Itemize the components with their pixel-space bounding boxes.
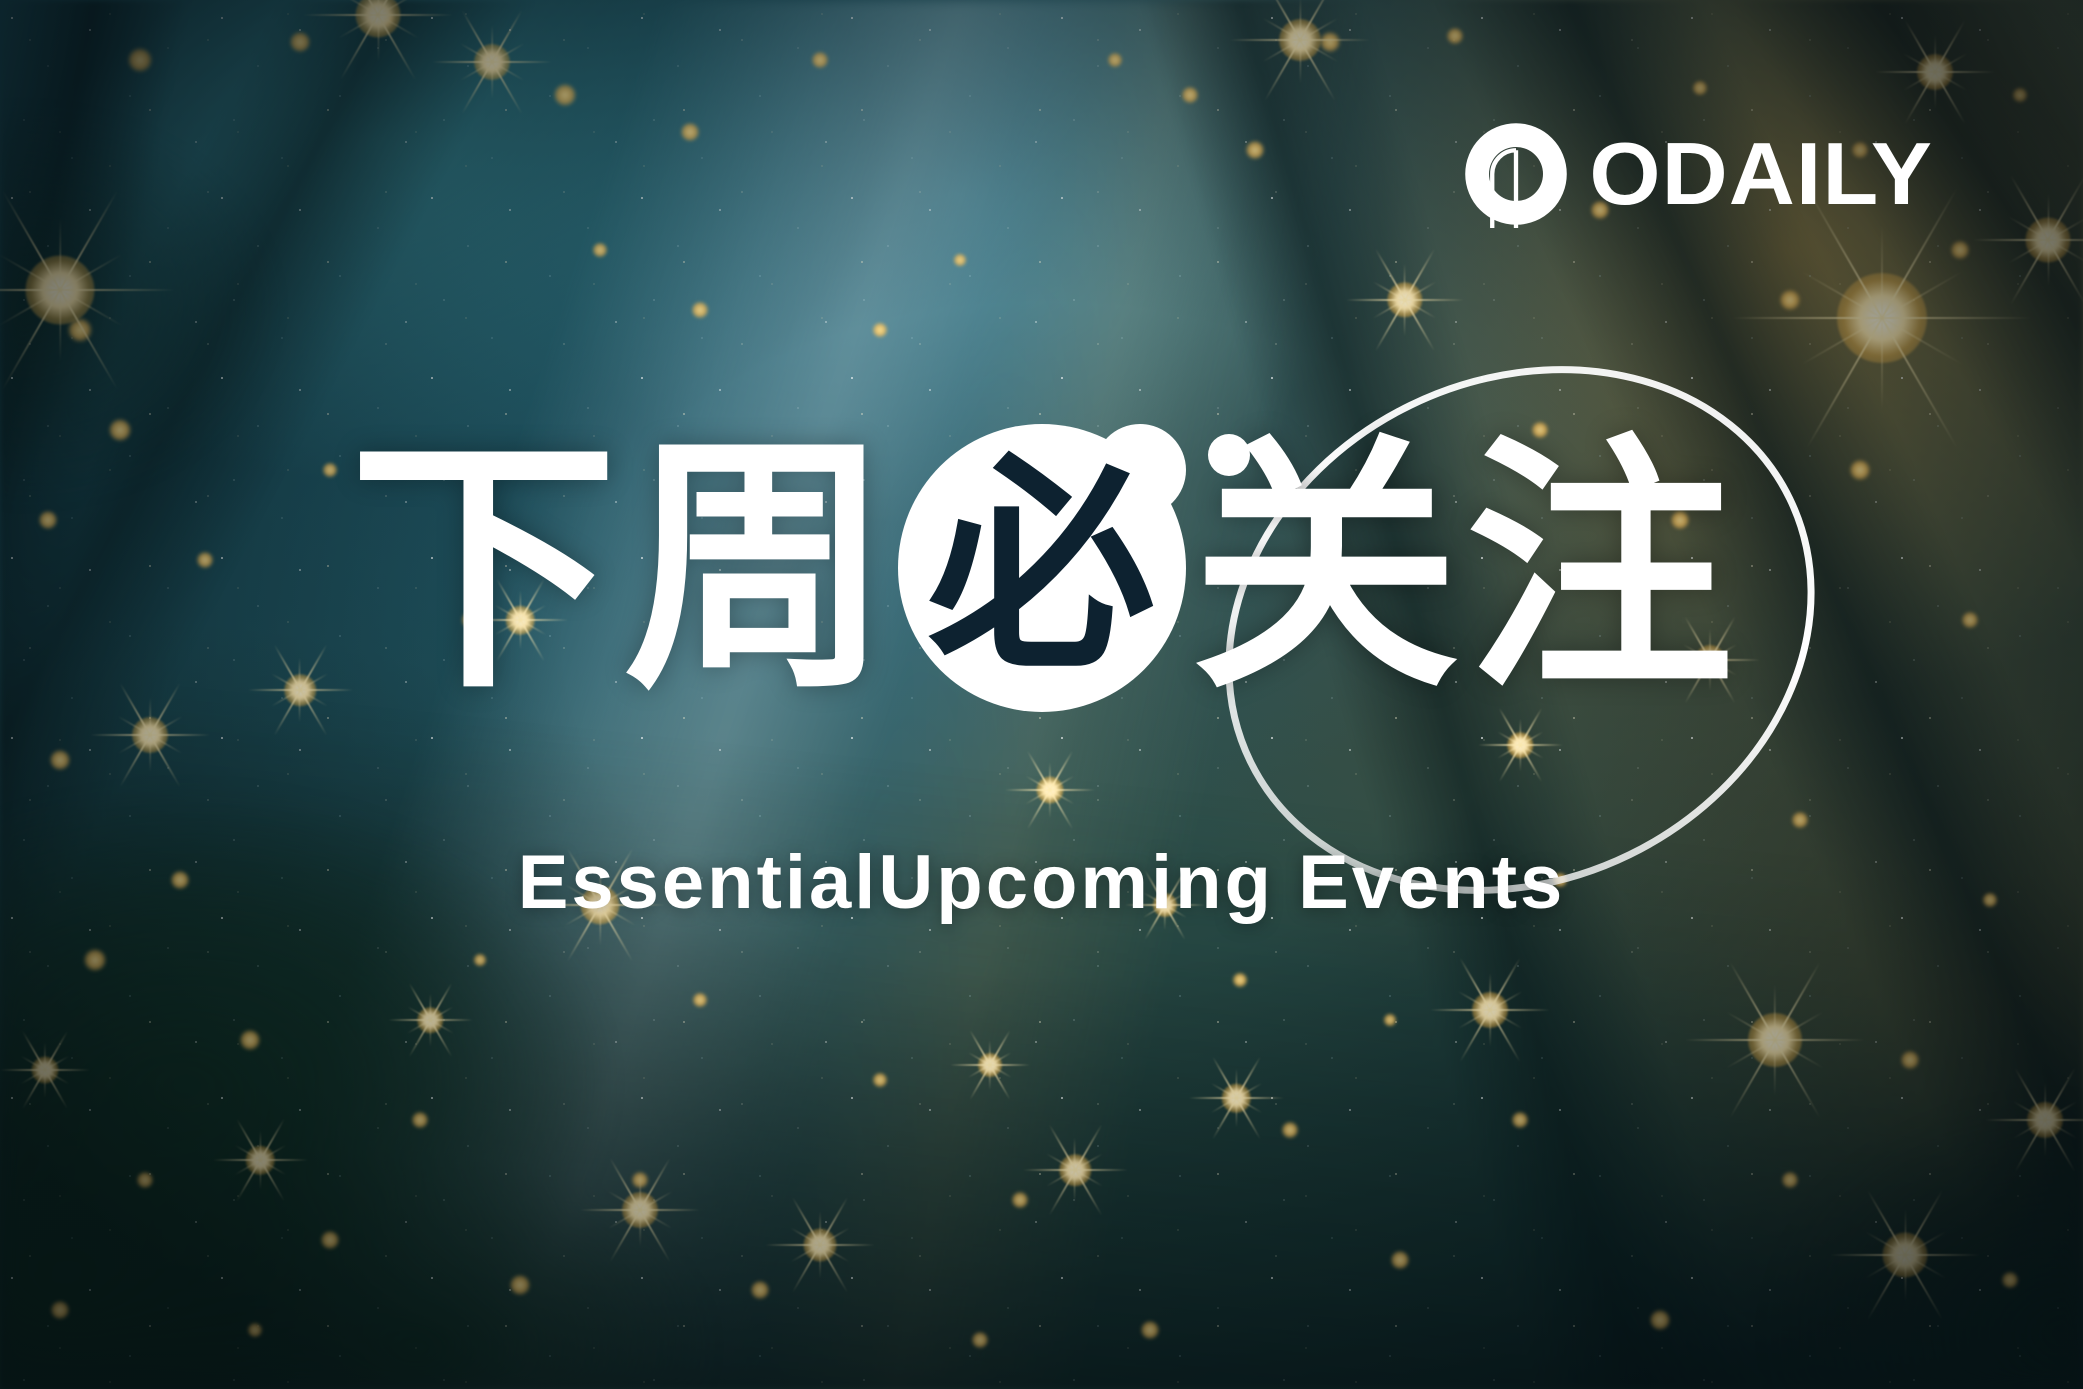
title-char-zhou: 周 — [624, 434, 892, 702]
title-char-bi: 必 — [928, 454, 1156, 682]
poster-canvas: ODAILY 下 周 必 关 注 EssentialUpcoming Event… — [0, 0, 2083, 1389]
odaily-wordmark: ODAILY — [1589, 130, 1933, 218]
title-char-xia: 下 — [350, 434, 618, 702]
odaily-logo[interactable]: ODAILY — [1462, 120, 1926, 228]
title-char-zhu: 注 — [1466, 434, 1734, 702]
page-title: 下 周 必 关 注 — [0, 418, 2083, 718]
page-subtitle: EssentialUpcoming Events — [0, 845, 2083, 921]
title-char-bi-badge: 必 — [892, 418, 1192, 718]
badge-dot-icon — [1208, 434, 1250, 476]
odaily-o-mark-icon — [1462, 120, 1570, 228]
